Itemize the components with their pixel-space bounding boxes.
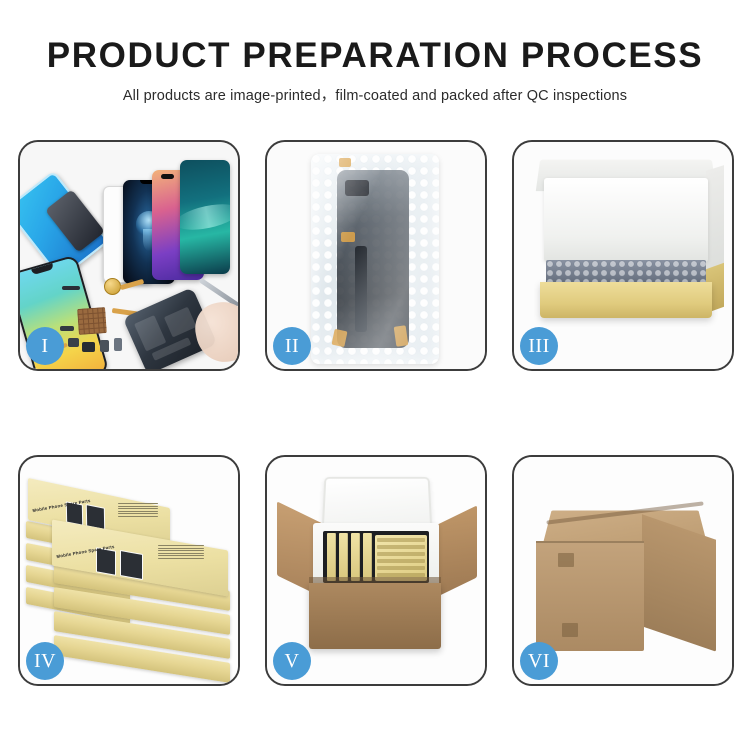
yellow-box-edge [351,533,360,581]
step-badge-6: VI [520,642,558,680]
step-badge-3: III [520,327,558,365]
header: PRODUCT PREPARATION PROCESS All products… [0,0,750,105]
box-label-lines [158,545,204,561]
small-part-icon [82,342,95,352]
step-badge-5: V [273,642,311,680]
small-part-icon [68,338,79,347]
process-step-panel-2[interactable]: II [265,140,487,371]
carton-edge [536,541,644,543]
foam-cavity [323,531,429,583]
small-part-icon [62,286,80,290]
bubble-wrap-bag-icon [311,154,439,364]
process-step-grid: I II [18,140,734,686]
yellow-box-front-icon [540,282,712,318]
small-part-icon [100,340,109,352]
small-part-icon [60,326,74,331]
small-part-icon [114,338,122,351]
carton-front-icon [309,583,441,649]
step-badge-4: IV [26,642,64,680]
foam-sheet-icon [544,178,708,262]
connector-grid-icon [77,307,107,335]
box-label-lines [118,503,158,519]
carton-tab-icon [558,553,574,567]
process-step-panel-1[interactable]: I [18,140,240,371]
yellow-box-edge [363,533,372,581]
step-badge-2: II [273,327,311,365]
process-step-panel-4[interactable]: Mobile Phone Spare Parts Mobile Phone Sp… [18,455,240,686]
step-badge-1: I [26,327,64,365]
plastic-sheen [311,154,439,364]
notch [31,263,54,275]
process-step-panel-6[interactable]: VI [512,455,734,686]
phone-teal-gradient-icon [180,160,230,274]
process-step-panel-5[interactable]: V [265,455,487,686]
box-window [120,550,143,580]
box-lid-side-icon [706,165,724,275]
carton-front-icon [536,541,644,651]
yellow-box-edge [327,533,336,581]
gold-component-icon [104,278,121,295]
page-subtitle: All products are image-printed，film-coat… [0,84,750,105]
yellow-box-group [375,535,427,581]
page-title: PRODUCT PREPARATION PROCESS [0,36,750,75]
notch [161,174,174,179]
wallpaper-wave [180,199,230,234]
carton-tab-icon [562,623,578,637]
box-stack-icon: Mobile Phone Spare Parts Mobile Phone Sp… [26,479,238,669]
process-step-panel-3[interactable]: III [512,140,734,371]
yellow-box-edge [339,533,348,581]
chassis-module [134,315,166,351]
chassis-module [164,307,197,338]
